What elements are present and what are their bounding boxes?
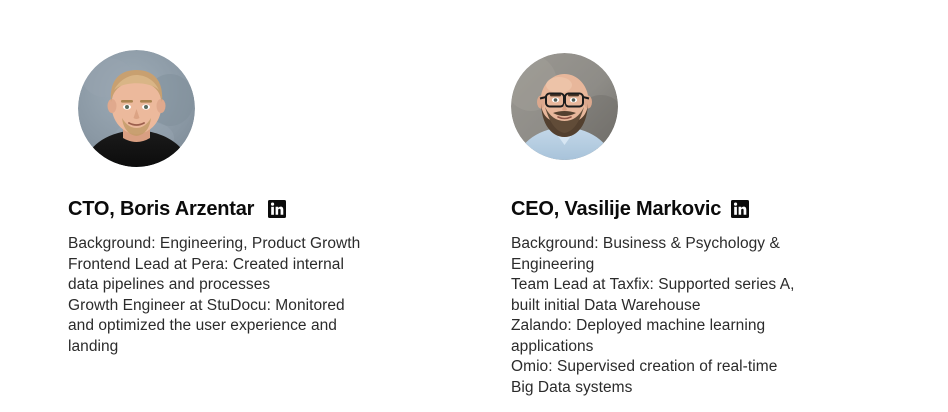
bio-line: Zalando: Deployed machine learning — [511, 316, 863, 337]
avatar — [78, 50, 195, 167]
bio-line: Omio: Supervised creation of real-time — [511, 357, 863, 378]
bio-line: landing — [68, 337, 413, 358]
linkedin-icon[interactable] — [731, 200, 749, 218]
team-member-card: CTO, Boris Arzentar Background: Engineer… — [68, 0, 468, 167]
team-member-card: CEO, Vasilije Markovic Background: Busin… — [511, 0, 911, 160]
bio-line: data pipelines and processes — [68, 275, 413, 296]
bio-line: and optimized the user experience and — [68, 316, 413, 337]
bio-line: Big Data systems — [511, 378, 863, 399]
bio-line: applications — [511, 337, 863, 358]
member-bio: Background: Business & Psychology & Engi… — [511, 234, 863, 398]
member-heading: CEO, Vasilije Markovic — [511, 197, 749, 221]
team-members-section: CTO, Boris Arzentar Background: Engineer… — [0, 0, 948, 412]
avatar — [511, 53, 618, 160]
bio-line: Team Lead at Taxfix: Supported series A, — [511, 275, 863, 296]
member-name: CTO, Boris Arzentar — [68, 197, 254, 221]
bio-line: built initial Data Warehouse — [511, 296, 863, 317]
bio-line: Engineering — [511, 255, 863, 276]
bio-line: Growth Engineer at StuDocu: Monitored — [68, 296, 413, 317]
member-heading: CTO, Boris Arzentar — [68, 197, 286, 221]
bio-line: Background: Engineering, Product Growth — [68, 234, 413, 255]
bio-line: Background: Business & Psychology & — [511, 234, 863, 255]
member-bio: Background: Engineering, Product Growth … — [68, 234, 413, 357]
linkedin-icon[interactable] — [268, 200, 286, 218]
bio-line: Frontend Lead at Pera: Created internal — [68, 255, 413, 276]
member-name: CEO, Vasilije Markovic — [511, 197, 721, 221]
